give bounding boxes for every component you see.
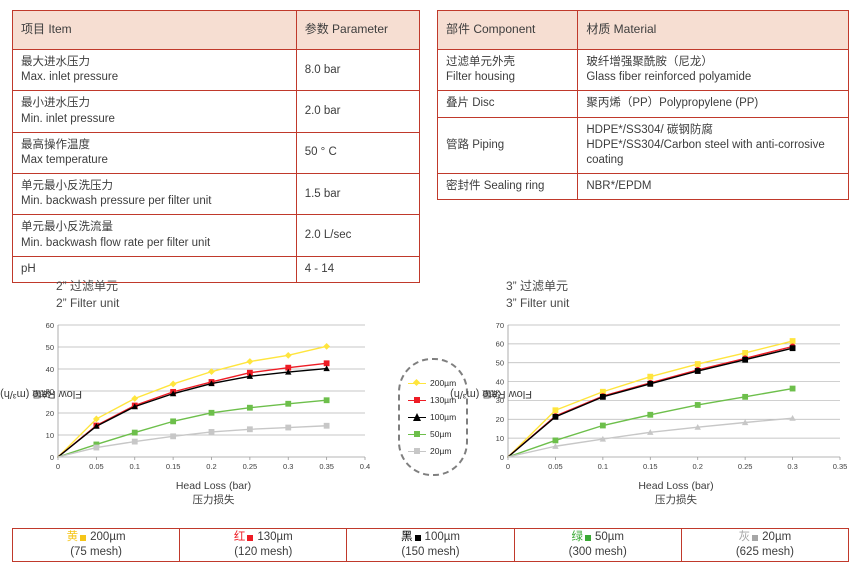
svg-text:0.05: 0.05 bbox=[548, 462, 563, 471]
material-header-component: 部件 Component bbox=[438, 11, 578, 50]
material-en: HDPE*/SS304/Carbon steel with anti-corro… bbox=[586, 138, 840, 168]
datasheet-page: 项目 Item 参数 Parameter 最大进水压力Max. inlet pr… bbox=[0, 0, 861, 567]
mesh-size-legend-bar: 黄200µm(75 mesh)红130µm(120 mesh)黑100µm(15… bbox=[12, 528, 849, 562]
spec-item-en: Min. inlet pressure bbox=[21, 112, 288, 127]
table-header-row: 项目 Item 参数 Parameter bbox=[13, 11, 420, 50]
chart-3inch-filter-unit: 3” 过滤单元 3” Filter unit 流量 Flow Rate (m³/… bbox=[478, 278, 848, 518]
chart-3inch-xlabel: Head Loss (bar) 压力损失 bbox=[504, 479, 848, 507]
spec-item-cn: 单元最小反洗压力 bbox=[21, 179, 288, 194]
mesh-micron-label: 200µm bbox=[90, 530, 125, 545]
chart-3inch-title: 3” 过滤单元 3” Filter unit bbox=[506, 278, 848, 313]
legend-item: 50µm bbox=[408, 426, 466, 443]
svg-text:0: 0 bbox=[56, 462, 60, 471]
table-row: 单元最小反洗压力Min. backwash pressure per filte… bbox=[13, 174, 420, 215]
component-cn: 密封件 Sealing ring bbox=[446, 179, 569, 194]
mesh-color-swatch-icon bbox=[585, 535, 591, 541]
mesh-color-name: 黄 bbox=[67, 530, 79, 545]
legend-item: 100µm bbox=[408, 409, 466, 426]
mesh-count-label: (75 mesh) bbox=[70, 545, 122, 560]
svg-text:0.35: 0.35 bbox=[833, 462, 848, 471]
spec-value-cell: 2.0 bar bbox=[296, 91, 419, 132]
material-component-cell: 过滤单元外壳Filter housing bbox=[438, 50, 578, 91]
spec-item-en: Max temperature bbox=[21, 153, 288, 168]
table-row: 密封件 Sealing ringNBR*/EPDM bbox=[438, 174, 849, 200]
svg-text:0.15: 0.15 bbox=[643, 462, 658, 471]
legend-label: 200µm bbox=[430, 378, 456, 388]
xlabel-cn: 压力损失 bbox=[54, 493, 373, 507]
table-row: 单元最小反洗流量Min. backwash flow rate per filt… bbox=[13, 215, 420, 256]
mesh-legend-top: 红130µm bbox=[234, 530, 293, 545]
material-table: 部件 Component 材质 Material 过滤单元外壳Filter ho… bbox=[437, 10, 849, 200]
mesh-color-name: 灰 bbox=[739, 530, 751, 545]
legend-label: 100µm bbox=[430, 412, 456, 422]
mesh-legend-cell: 黄200µm(75 mesh) bbox=[13, 529, 180, 561]
spec-value-cell: 1.5 bar bbox=[296, 174, 419, 215]
mesh-count-label: (300 mesh) bbox=[569, 545, 627, 560]
spec-item-cell: 最高操作温度Max temperature bbox=[13, 132, 297, 173]
chart-title-cn: 3” 过滤单元 bbox=[506, 278, 848, 295]
legend-marker-square-icon bbox=[408, 447, 426, 456]
material-component-cell: 叠片 Disc bbox=[438, 91, 578, 117]
mesh-legend-cell: 灰20µm(625 mesh) bbox=[682, 529, 848, 561]
component-cn: 管路 Piping bbox=[446, 138, 569, 153]
spec-item-cell: 单元最小反洗流量Min. backwash flow rate per filt… bbox=[13, 215, 297, 256]
legend-marker-square-icon bbox=[408, 430, 426, 439]
mesh-color-name: 黑 bbox=[401, 530, 413, 545]
table-row: 最大进水压力Max. inlet pressure8.0 bar bbox=[13, 50, 420, 91]
chart-2inch-filter-unit: 2” 过滤单元 2” Filter unit 流量 Flow Rate (m³/… bbox=[28, 278, 373, 518]
spec-item-en: Max. inlet pressure bbox=[21, 70, 288, 85]
mesh-legend-cell: 黑100µm(150 mesh) bbox=[347, 529, 514, 561]
legend-marker-square-icon bbox=[408, 396, 426, 405]
material-cn: 聚丙烯（PP）Polypropylene (PP) bbox=[586, 96, 840, 111]
legend-item: 20µm bbox=[408, 443, 466, 460]
mesh-color-swatch-icon bbox=[415, 535, 421, 541]
svg-text:0.25: 0.25 bbox=[243, 462, 258, 471]
mesh-count-label: (625 mesh) bbox=[736, 545, 794, 560]
material-cn: HDPE*/SS304/ 碳钢防腐 bbox=[586, 123, 840, 138]
ylabel-en: Flow Rate (m³/h) bbox=[0, 388, 82, 400]
spec-item-cn: 最高操作温度 bbox=[21, 138, 288, 153]
material-component-cell: 管路 Piping bbox=[438, 117, 578, 174]
table-row: 叠片 Disc聚丙烯（PP）Polypropylene (PP) bbox=[438, 91, 849, 117]
svg-text:0.3: 0.3 bbox=[787, 462, 797, 471]
mesh-legend-cell: 绿50µm(300 mesh) bbox=[515, 529, 682, 561]
chart-2inch-title: 2” 过滤单元 2” Filter unit bbox=[56, 278, 373, 313]
spec-item-cn: pH bbox=[21, 262, 288, 277]
mesh-color-name: 绿 bbox=[571, 530, 583, 545]
xlabel-cn: 压力损失 bbox=[504, 493, 848, 507]
material-en: Glass fiber reinforced polyamide bbox=[586, 70, 840, 85]
svg-text:0.1: 0.1 bbox=[130, 462, 140, 471]
material-value-cell: NBR*/EPDM bbox=[578, 174, 849, 200]
legend-label: 20µm bbox=[430, 446, 451, 456]
spec-item-cn: 单元最小反洗流量 bbox=[21, 220, 288, 235]
component-en: Filter housing bbox=[446, 70, 569, 85]
mesh-micron-label: 130µm bbox=[257, 530, 292, 545]
material-value-cell: 玻纤增强聚酰胺（尼龙）Glass fiber reinforced polyam… bbox=[578, 50, 849, 91]
chart-2inch-ylabel: 流量 Flow Rate (m³/h) bbox=[28, 319, 54, 469]
spec-value-cell: 2.0 L/sec bbox=[296, 215, 419, 256]
mesh-micron-label: 20µm bbox=[762, 530, 791, 545]
spec-item-cn: 最大进水压力 bbox=[21, 55, 288, 70]
material-cn: 玻纤增强聚酰胺（尼龙） bbox=[586, 55, 840, 70]
svg-text:0.3: 0.3 bbox=[283, 462, 293, 471]
ylabel-en: Flow Rate (m³/h) bbox=[450, 388, 532, 400]
mesh-legend-top: 绿50µm bbox=[571, 530, 624, 545]
legend-marker-diamond-icon bbox=[408, 379, 426, 388]
svg-text:0.2: 0.2 bbox=[692, 462, 702, 471]
spec-value-cell: 8.0 bar bbox=[296, 50, 419, 91]
spec-header-item: 项目 Item bbox=[13, 11, 297, 50]
mesh-color-swatch-icon bbox=[752, 535, 758, 541]
mesh-legend-top: 黑100µm bbox=[401, 530, 460, 545]
mesh-legend-top: 灰20µm bbox=[739, 530, 792, 545]
mesh-micron-label: 50µm bbox=[595, 530, 624, 545]
material-header-material: 材质 Material bbox=[578, 11, 849, 50]
chart-title-en: 3” Filter unit bbox=[506, 295, 848, 312]
component-cn: 叠片 Disc bbox=[446, 96, 569, 111]
table-row: 最小进水压力Min. inlet pressure2.0 bar bbox=[13, 91, 420, 132]
material-component-cell: 密封件 Sealing ring bbox=[438, 174, 578, 200]
component-cn: 过滤单元外壳 bbox=[446, 55, 569, 70]
spec-item-en: Min. backwash pressure per filter unit bbox=[21, 194, 288, 209]
mesh-micron-label: 100µm bbox=[425, 530, 460, 545]
spec-item-en: Min. backwash flow rate per filter unit bbox=[21, 236, 288, 251]
svg-text:0.35: 0.35 bbox=[319, 462, 334, 471]
table-row: 过滤单元外壳Filter housing玻纤增强聚酰胺（尼龙）Glass fib… bbox=[438, 50, 849, 91]
spec-item-cn: 最小进水压力 bbox=[21, 96, 288, 111]
mesh-color-swatch-icon bbox=[247, 535, 253, 541]
spec-value-cell: 50 ° C bbox=[296, 132, 419, 173]
mesh-count-label: (120 mesh) bbox=[234, 545, 292, 560]
table-row: 最高操作温度Max temperature50 ° C bbox=[13, 132, 420, 173]
material-cn: NBR*/EPDM bbox=[586, 179, 840, 194]
svg-text:0.2: 0.2 bbox=[206, 462, 216, 471]
svg-text:0.25: 0.25 bbox=[738, 462, 753, 471]
svg-text:0.05: 0.05 bbox=[89, 462, 104, 471]
specification-table: 项目 Item 参数 Parameter 最大进水压力Max. inlet pr… bbox=[12, 10, 420, 283]
spec-item-cell: 最小进水压力Min. inlet pressure bbox=[13, 91, 297, 132]
legend-marker-triangle-icon bbox=[408, 413, 426, 422]
table-header-row: 部件 Component 材质 Material bbox=[438, 11, 849, 50]
chart-3inch-ylabel: 流量 Flow Rate (m³/h) bbox=[478, 319, 504, 469]
spec-item-cell: 最大进水压力Max. inlet pressure bbox=[13, 50, 297, 91]
chart-3inch-plot: 01020304050607000.050.10.150.20.250.30.3… bbox=[478, 319, 848, 479]
chart-legend-box: 200µm130µm100µm50µm20µm bbox=[398, 358, 468, 476]
svg-text:0: 0 bbox=[506, 462, 510, 471]
chart-title-cn: 2” 过滤单元 bbox=[56, 278, 373, 295]
mesh-color-name: 红 bbox=[234, 530, 246, 545]
mesh-color-swatch-icon bbox=[80, 535, 86, 541]
svg-text:0.15: 0.15 bbox=[166, 462, 181, 471]
mesh-legend-top: 黄200µm bbox=[67, 530, 126, 545]
material-value-cell: 聚丙烯（PP）Polypropylene (PP) bbox=[578, 91, 849, 117]
xlabel-en: Head Loss (bar) bbox=[638, 480, 713, 492]
xlabel-en: Head Loss (bar) bbox=[176, 480, 251, 492]
chart-2inch-xlabel: Head Loss (bar) 压力损失 bbox=[54, 479, 373, 507]
svg-text:0.1: 0.1 bbox=[598, 462, 608, 471]
spec-item-cell: 单元最小反洗压力Min. backwash pressure per filte… bbox=[13, 174, 297, 215]
table-row: 管路 PipingHDPE*/SS304/ 碳钢防腐HDPE*/SS304/Ca… bbox=[438, 117, 849, 174]
chart-title-en: 2” Filter unit bbox=[56, 295, 373, 312]
legend-label: 50µm bbox=[430, 429, 451, 439]
material-value-cell: HDPE*/SS304/ 碳钢防腐HDPE*/SS304/Carbon stee… bbox=[578, 117, 849, 174]
mesh-legend-cell: 红130µm(120 mesh) bbox=[180, 529, 347, 561]
mesh-count-label: (150 mesh) bbox=[401, 545, 459, 560]
spec-header-parameter: 参数 Parameter bbox=[296, 11, 419, 50]
svg-text:0.4: 0.4 bbox=[360, 462, 370, 471]
